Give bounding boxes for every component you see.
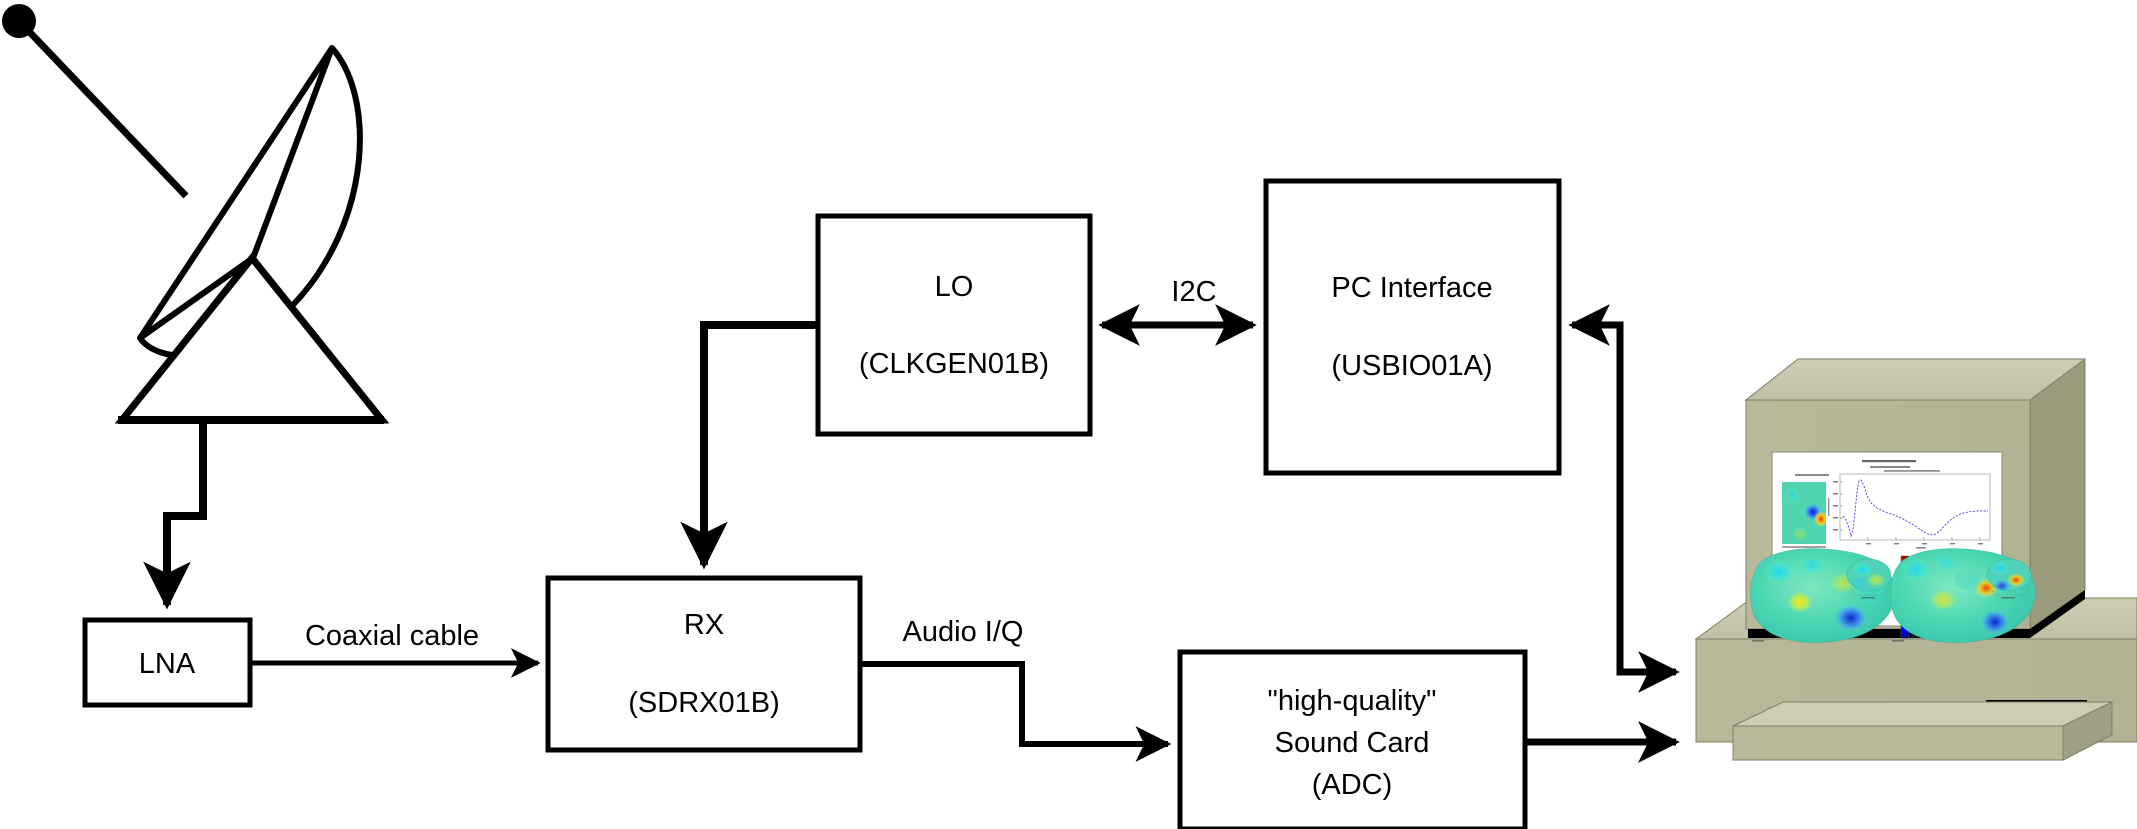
screen-panel-heatmap bbox=[1782, 482, 1828, 544]
edge-label-audio-iq: Audio I/Q bbox=[903, 616, 1024, 648]
diagram-canvas: LNA Coaxial cable RX (SDRX01B) LO (CLKGE… bbox=[0, 0, 2137, 829]
block-sound-card[interactable]: "high-quality" Sound Card (ADC) bbox=[1180, 652, 1525, 829]
connector-lo-pcinterface-i2c: I2C bbox=[1102, 276, 1253, 325]
connector-lo-to-rx bbox=[704, 325, 818, 565]
block-lo[interactable]: LO (CLKGEN01B) bbox=[818, 216, 1090, 434]
block-pc-interface-label: PC Interface bbox=[1331, 272, 1492, 304]
connector-rx-to-soundcard: Audio I/Q bbox=[860, 616, 1168, 744]
block-lo-label: LO bbox=[935, 271, 974, 303]
edge-label-i2c: I2C bbox=[1171, 276, 1216, 308]
block-sound-card-label-1: "high-quality" bbox=[1268, 685, 1437, 717]
desktop-computer-icon bbox=[1696, 359, 2137, 760]
block-pc-interface[interactable]: PC Interface (USBIO01A) bbox=[1266, 181, 1559, 473]
satellite-dish-icon bbox=[2, 4, 384, 420]
block-rx[interactable]: RX (SDRX01B) bbox=[548, 578, 860, 750]
block-pc-interface-sublabel: (USBIO01A) bbox=[1331, 350, 1492, 382]
block-sound-card-label-2: Sound Card bbox=[1275, 727, 1430, 759]
connector-antenna-to-lna bbox=[167, 423, 203, 605]
block-rx-label: RX bbox=[684, 609, 724, 641]
block-sound-card-label-3: (ADC) bbox=[1312, 769, 1393, 801]
block-rx-sublabel: (SDRX01B) bbox=[628, 687, 780, 719]
edge-label-coaxial-cable: Coaxial cable bbox=[305, 620, 479, 652]
connector-lna-to-rx: Coaxial cable bbox=[250, 620, 538, 663]
block-diagram-svg: LNA Coaxial cable RX (SDRX01B) LO (CLKGE… bbox=[0, 0, 2137, 829]
block-lna-label: LNA bbox=[139, 648, 196, 680]
block-lo-sublabel: (CLKGEN01B) bbox=[859, 348, 1049, 380]
connector-computer-to-pcinterface bbox=[1572, 325, 1676, 672]
block-lna[interactable]: LNA bbox=[85, 620, 250, 705]
